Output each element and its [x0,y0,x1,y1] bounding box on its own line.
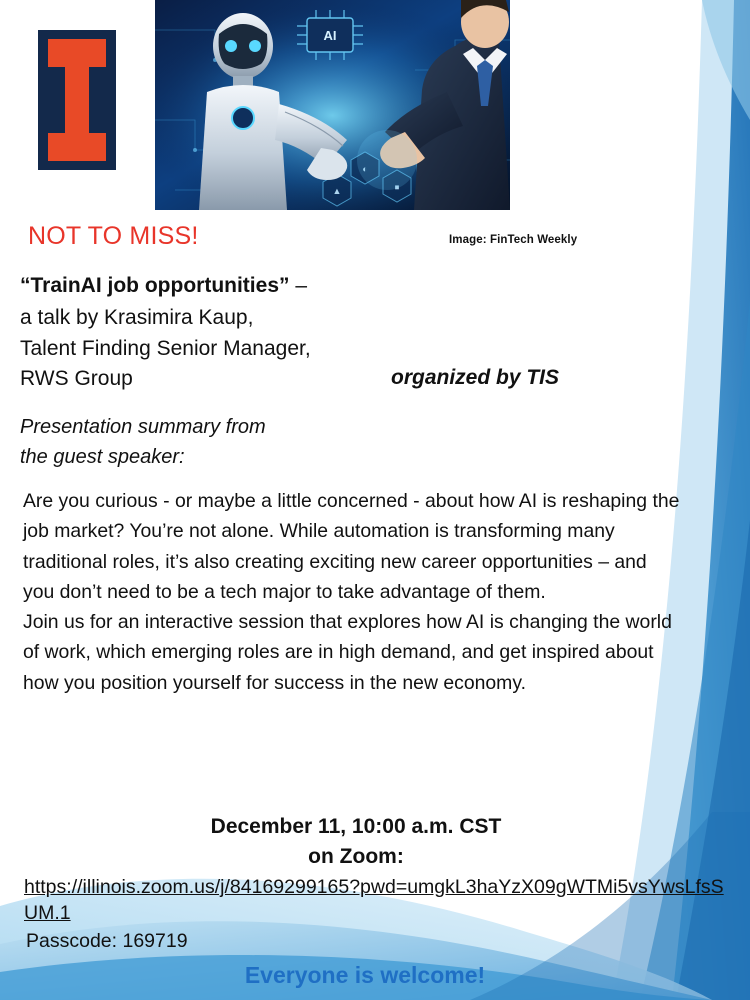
image-credit: Image: FinTech Weekly [449,234,577,246]
talk-title: “TrainAI job opportunities” – [20,271,307,301]
summary-label-line1: Presentation summary from [20,412,266,442]
svg-text:▲: ▲ [333,186,342,196]
summary-body: Are you curious - or maybe a little conc… [23,486,683,698]
university-logo [38,30,116,170]
page-headline: NOT TO MISS! [28,222,199,251]
talk-title-dash: – [290,274,308,297]
summary-label: Presentation summary from the guest spea… [20,412,266,472]
event-when: December 11, 10:00 a.m. CST on Zoom: [0,812,712,872]
zoom-link[interactable]: https://illinois.zoom.us/j/84169299165?p… [24,874,724,926]
summary-paragraph-1: Are you curious - or maybe a little conc… [23,486,683,607]
talk-details: a talk by Krasimira Kaup, Talent Finding… [20,303,311,395]
zoom-url-text[interactable]: https://illinois.zoom.us/j/84169299165?p… [24,876,724,924]
organizer-label: organized by TIS [391,366,559,390]
zoom-passcode: Passcode: 169719 [26,930,188,953]
svg-text:AI: AI [324,28,337,43]
talk-title-quoted: “TrainAI job opportunities” [20,274,290,297]
talk-role-line: Talent Finding Senior Manager, [20,334,311,365]
event-datetime: December 11, 10:00 a.m. CST [0,812,712,842]
event-platform: on Zoom: [0,842,712,872]
ai-handshake-illustration: AI $ ◐ ■ ⏹ ☷ ▲ AI [155,0,510,210]
talk-company-line: RWS Group [20,364,311,395]
summary-paragraph-2: Join us for an interactive session that … [23,607,683,698]
welcome-message: Everyone is welcome! [0,962,730,989]
talk-speaker-line: a talk by Krasimira Kaup, [20,303,311,334]
summary-label-line2: the guest speaker: [20,442,266,472]
